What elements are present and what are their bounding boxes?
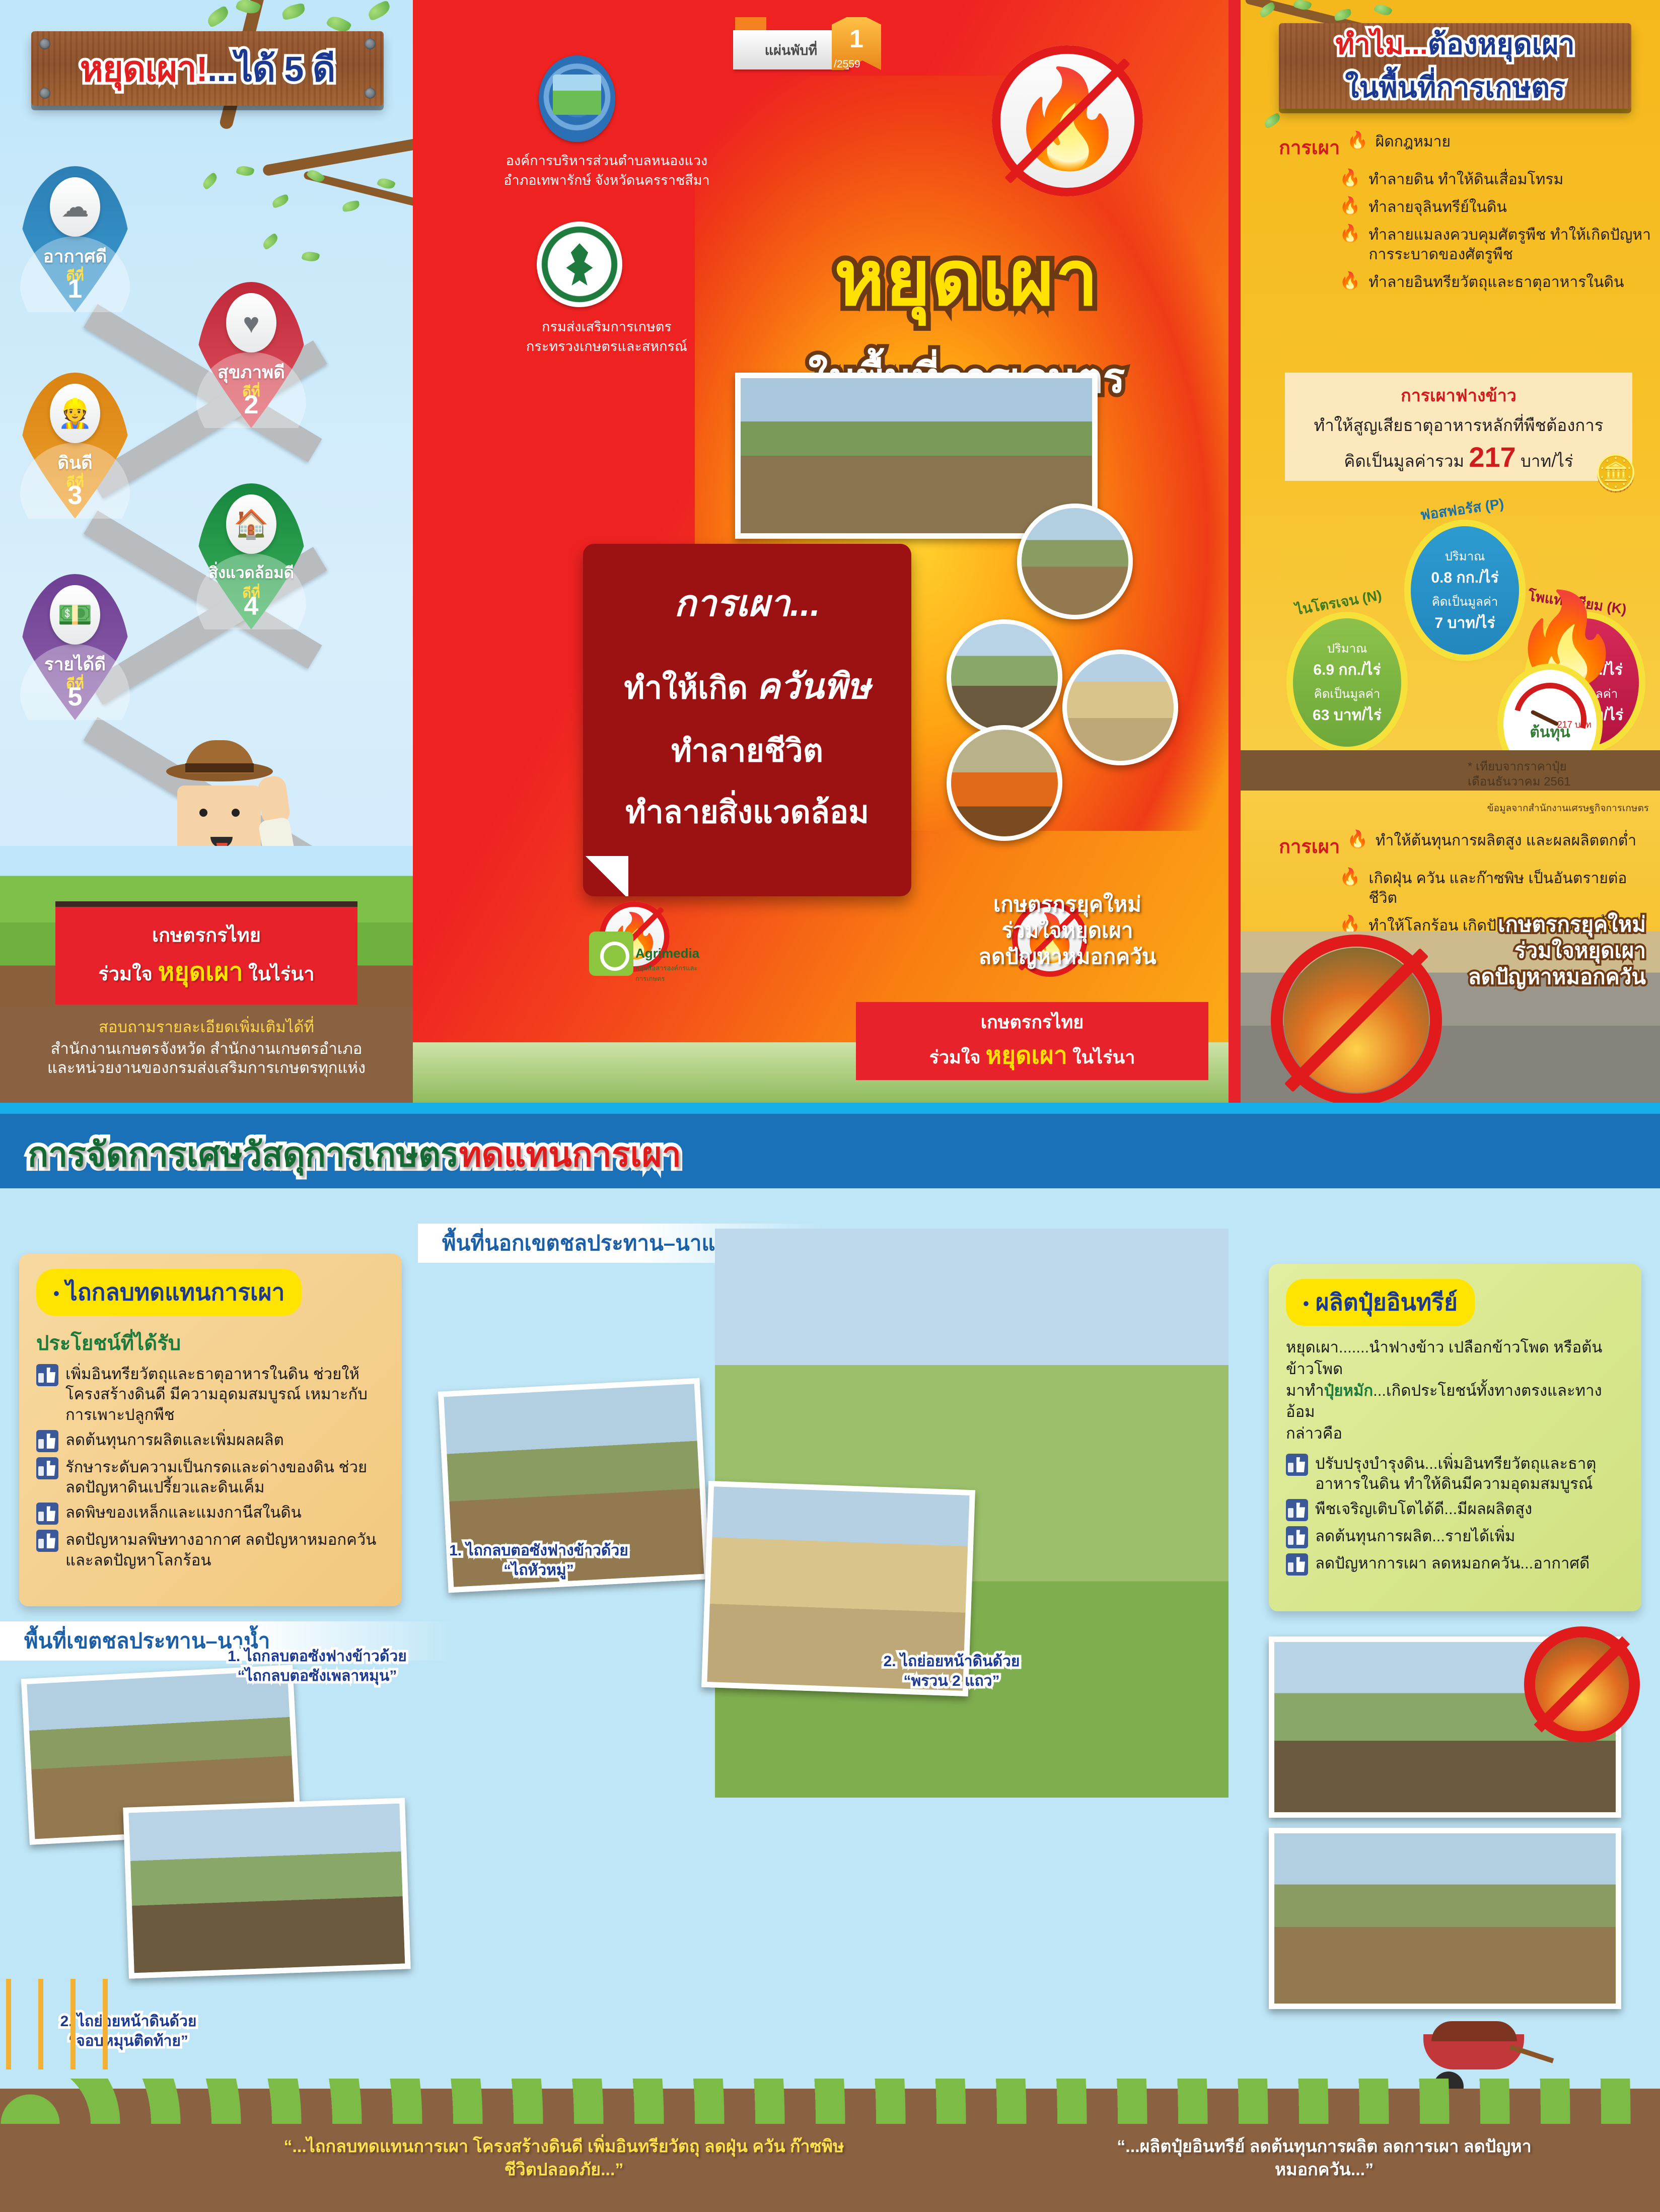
footer-quote-left: “...ไถกลบทดแทนการเผา โครงสร้างดินดี เพิ่… <box>282 2135 846 2182</box>
benefit-pin-5[interactable]: 💵 รายได้ดี ดีที่ 5 <box>20 574 130 720</box>
sao-nongwaeng-seal-logo <box>539 55 615 142</box>
harm2-item: เกิดฝุ่น ควัน และก๊าซพิษ เป็นอันตรายต่อช… <box>1368 869 1651 908</box>
tab-number: 1 <box>849 26 863 51</box>
red-banner-line1: เกษตรกรไทย <box>152 919 261 950</box>
pin-rank-number: 5 <box>20 684 130 710</box>
page-fold-corner <box>583 856 628 896</box>
red-banner-post: ในไร่นา <box>248 964 314 985</box>
flame-icon: 🔥 <box>1347 132 1368 149</box>
screw-icon <box>365 88 376 99</box>
bottom-half: การจัดการเศษวัสดุการเกษตรทดแทนการเผา ปุ๋… <box>0 1103 1660 2212</box>
grass-wave-divider <box>0 2079 1660 2124</box>
organic-intro-line1: หยุดเผา.......นำฟางข้าว เปลือกข้าวโพด หร… <box>1286 1337 1624 1380</box>
digging-person-icon: 👷 <box>50 384 100 443</box>
slogan-line-3: ลดปัญหาหมอกควัน <box>916 944 1218 970</box>
harm-item: ทำลายจุลินทรีย์ในดิน <box>1368 197 1507 217</box>
burning-effects-box: การเผา... ทำให้เกิด ควันพิษ ทำลายชีวิต ท… <box>583 544 911 896</box>
wheat-decoration <box>0 1979 131 2070</box>
sign-title-blue: ...ได้ 5 ดี <box>207 49 335 89</box>
sign2-line2: ในพื้นที่การเกษตร <box>1345 65 1565 110</box>
leaf-icon <box>1333 9 1352 22</box>
benefit-text: ลดต้นทุนการผลิตและเพิ่มผลผลิต <box>65 1430 284 1450</box>
list-item: รักษาระดับความเป็นกรดและด่างของดิน ช่วยล… <box>36 1457 385 1498</box>
slogan-line-2: ร่วมใจหยุดเผา <box>1394 938 1646 964</box>
pin-rank-number: 3 <box>20 482 130 509</box>
thumbs-up-icon <box>36 1503 58 1525</box>
leaf-icon <box>205 5 232 28</box>
photo-compost-pit-2 <box>1269 1828 1621 2009</box>
central-flame-illustration: 🔥 <box>1510 594 1623 685</box>
price-footnote: * เทียบจากราคาปุ๋ย เดือนธันวาคม 2561 <box>1468 759 1649 790</box>
nutrient-label-p: ฟอสฟอรัส (P) <box>1419 493 1505 527</box>
wheelbarrow-load <box>1431 2021 1517 2041</box>
photo-plowing-circle <box>1017 504 1133 619</box>
organic-benefit-text: ปรับปรุงบำรุงดิน...เพิ่มอินทรียวัตถุและธ… <box>1315 1454 1624 1494</box>
benefit-pin-2[interactable]: ♥ สุขภาพดี ดีที่ 2 <box>196 282 306 428</box>
burn-label-2: การเผา <box>1279 831 1340 862</box>
organic-intro-line3: กล่าวคือ <box>1286 1423 1624 1445</box>
thumbs-up-icon <box>36 1530 58 1552</box>
infobox-pre: คิดเป็นมูลค่ารวม <box>1344 452 1464 470</box>
harm-item: ทำลายดิน ทำให้ดินเสื่อมโทรม <box>1368 170 1563 189</box>
leaf-icon <box>366 0 393 21</box>
list-item: ลดปัญหามลพิษทางอากาศ ลดปัญหาหมอกควัน และ… <box>36 1530 385 1571</box>
tab-sheet: แผ่นพับที่ <box>733 30 849 69</box>
organic-pill-label: ผลิตปุ๋ยอินทรีย์ <box>1316 1289 1458 1315</box>
dark-line-1: การเผา... <box>597 574 897 632</box>
pin-rank-number: 4 <box>196 593 306 619</box>
plow-back-pill-label: ไถกลบทดแทนการเผา <box>66 1279 285 1305</box>
sign2-line1: ทำไม...ต้องหยุดเผา <box>1335 22 1574 67</box>
flame-icon: 🔥 <box>1339 916 1360 933</box>
leaf-icon <box>236 164 255 178</box>
organic-intro-pre: มาทำ <box>1286 1382 1324 1399</box>
source-footnote: ข้อมูลจากสำนักงานเศรษฐกิจการเกษตร <box>1432 801 1649 816</box>
bottom-section-title: การจัดการเศษวัสดุการเกษตรทดแทนการเผา <box>28 1127 681 1181</box>
leaf-icon <box>271 194 290 208</box>
nutrient-value: 7 บาท/ไร่ <box>1434 611 1495 635</box>
coins-icon: 🪙 <box>1594 453 1638 494</box>
infobox-title: การเผาฟางข้าว <box>1285 382 1632 409</box>
bullet-dot-icon: • <box>1303 1294 1309 1313</box>
caption-irrigated-1: 1. ไถกลบตอซังฟางข้าวด้วย “ไถกลบตอซังเพลา… <box>201 1647 433 1686</box>
plow-back-pill: • ไถกลบทดแทนการเผา <box>36 1269 302 1316</box>
title-main: หยุดเผา <box>725 217 1208 338</box>
organization-1: องค์การบริหารส่วนตำบลหนองแวง อำภอเทพารัก… <box>498 151 715 190</box>
caption-line1: 1. ไถกลบตอซังฟางข้าวด้วย <box>201 1647 433 1666</box>
red-banner-line1: เกษตรกรไทย <box>981 1008 1084 1036</box>
nutrient-bubble-nitrogen: ปริมาณ 6.9 กก./ไร่ คิดเป็นมูลค่า 63 บาท/… <box>1293 618 1401 747</box>
benefit-pin-3[interactable]: 👷 ดินดี ดีที่ 3 <box>20 373 130 519</box>
list-item: ลดต้นทุนการผลิต...รายได้เพิ่ม <box>1286 1526 1624 1548</box>
caption-line1: 1. ไถกลบตอซังฟางข้าวด้วย <box>433 1541 644 1560</box>
thumbs-up-icon <box>1286 1553 1308 1576</box>
plow-back-card: • ไถกลบทดแทนการเผา ประโยชน์ที่ได้รับ เพิ… <box>19 1254 402 1606</box>
benefit-text: รักษาระดับความเป็นกรดและด่างของดิน ช่วยล… <box>65 1457 385 1498</box>
organic-intro-line2: มาทำปุ๋ยหมัก...เกิดประโยชน์ทั้งทางตรงและ… <box>1286 1380 1624 1423</box>
slogan-line-2: ร่วมใจหยุดเผา <box>916 917 1218 944</box>
section-title-red: ทดแทนการเผา <box>459 1135 681 1174</box>
nutrient-bubble-phosphorus: ปริมาณ 0.8 กก./ไร่ คิดเป็นมูลค่า 7 บาท/ไ… <box>1411 526 1519 655</box>
nutrient-value-label: คิดเป็นมูลค่า <box>1314 684 1381 703</box>
pin-label: สิ่งแวดล้อมดี <box>196 560 306 585</box>
agrimedia-mark-icon <box>589 932 633 976</box>
harm-item: ทำลายอินทรียวัตถุและธาตุอาหารในดิน <box>1368 272 1624 292</box>
harm2-item: ทำให้ต้นทุนการผลิตสูง และผลผลิตตกต่ำ <box>1376 831 1636 850</box>
panel-cover: แผ่นพับที่ 1 /2559 องค์การบริหารส่วนตำบล… <box>413 0 1229 1103</box>
footnote-line2: เดือนธันวาคม 2561 <box>1468 774 1649 790</box>
benefit-text: ลดปัญหามลพิษทางอากาศ ลดปัญหาหมอกควัน และ… <box>65 1530 385 1571</box>
footer-quote-right: “...ผลิตปุ๋ยอินทรีย์ ลดต้นทุนการผลิต ลดก… <box>1098 2135 1551 2182</box>
caption-line2: “ไถหัวหมู” <box>433 1560 644 1580</box>
organization-2: กรมส่งเสริมการเกษตร กระทรวงเกษตรและสหกรณ… <box>498 317 715 356</box>
list-item: ลดต้นทุนการผลิตและเพิ่มผลผลิต <box>36 1430 385 1452</box>
no-burning-sign-bottom-right <box>1524 1626 1640 1742</box>
infobox-line1: ทำให้สูญเสียธาตุอาหารหลักที่พืชต้องการ <box>1285 412 1632 439</box>
dark-line-2: ทำให้เกิด ควันพิษ <box>597 658 897 714</box>
nutrient-value-label: คิดเป็นมูลค่า <box>1432 592 1498 611</box>
leaf-icon <box>200 172 220 190</box>
thumbs-up-icon <box>36 1364 58 1386</box>
red-edge-stripe <box>1229 0 1241 1103</box>
contact-line1: สำนักงานเกษตรจังหวัด สำนักงานเกษตรอำเภอ <box>0 1039 413 1058</box>
list-item: ลดปัญหาการเผา ลดหมอกควัน...อากาศดี <box>1286 1553 1624 1576</box>
leaf-icon <box>261 233 280 250</box>
organic-intro: หยุดเผา.......นำฟางข้าว เปลือกข้าวโพด หร… <box>1286 1337 1624 1445</box>
red-banner-emphasis: หยุดเผา <box>158 958 243 986</box>
nutrient-qty-value: 0.8 กก./ไร่ <box>1431 566 1498 590</box>
burn-label: การเผา <box>1279 132 1340 163</box>
doae-seal-logo <box>537 222 622 307</box>
agrimedia-name: Agrimedia <box>635 946 699 961</box>
organic-fertilizer-card: • ผลิตปุ๋ยอินทรีย์ หยุดเผา.......นำฟางข้… <box>1269 1264 1641 1611</box>
section-title-green: การจัดการเศษวัสดุการเกษตร <box>28 1135 459 1174</box>
org1-line2: อำภอเทพารักษ์ จังหวัดนครราชสีมา <box>498 171 715 190</box>
flame-icon: 🔥 <box>1339 225 1360 242</box>
thumbs-up-icon <box>1286 1499 1308 1521</box>
tab-label: แผ่นพับที่ <box>765 39 817 61</box>
screw-icon <box>39 38 50 49</box>
dark-line-3: ทำลายชีวิต <box>597 726 897 775</box>
thumbs-up-icon <box>1286 1454 1308 1476</box>
nutrient-qty-label: ปริมาณ <box>1327 638 1367 658</box>
caption-rainfed-1: 1. ไถกลบตอซังฟางข้าวด้วย “ไถหัวหมู” <box>433 1541 644 1580</box>
infographic-poster: หยุดเผา!...ได้ 5 ดี ☁ อากาศดี ดีที่ 1 <box>0 0 1660 2212</box>
contact-soil-footer: สอบถามรายละเอียดเพิ่มเติมได้ที่ สำนักงาน… <box>0 1007 413 1103</box>
slogan-line-1: เกษตรกรยุคใหม่ <box>916 891 1218 917</box>
list-item: ปรับปรุงบำรุงดิน...เพิ่มอินทรียวัตถุและธ… <box>1286 1454 1624 1494</box>
top-half: หยุดเผา!...ได้ 5 ดี ☁ อากาศดี ดีที่ 1 <box>0 0 1660 1103</box>
leaf-icon <box>301 250 320 263</box>
organic-benefit-text: พืชเจริญเติบโตได้ดี...มีผลผลิตสูง <box>1315 1499 1532 1519</box>
sign2-blue1: ต้องหยุดเผา <box>1428 28 1575 60</box>
list-item: พืชเจริญเติบโตได้ดี...มีผลผลิตสูง <box>1286 1499 1624 1521</box>
wooden-sign-why-stop: ทำไม...ต้องหยุดเผา ในพื้นที่การเกษตร <box>1279 23 1631 109</box>
gauge-max: 217 บาท <box>1557 717 1592 732</box>
organic-pill: • ผลิตปุ๋ยอินทรีย์ <box>1286 1279 1475 1326</box>
benefit-text: ลดพิษของเหล็กและแมงกานีสในดิน <box>65 1503 302 1523</box>
list-item: เพิ่มอินทรียวัตถุและธาตุอาหารในดิน ช่วยใ… <box>36 1364 385 1425</box>
thai-farmer-red-banner: เกษตรกรไทย ร่วมใจ หยุดเผา ในไร่นา <box>55 901 357 1005</box>
red-banner-line2: ร่วมใจ หยุดเผา ในไร่นา <box>98 952 314 992</box>
pin-rank-number: 1 <box>20 276 130 302</box>
panel-five-benefits: หยุดเผา!...ได้ 5 ดี ☁ อากาศดี ดีที่ 1 <box>0 0 413 1103</box>
burning-harms-list: การเผา 🔥 ผิดกฎหมาย 🔥 ทำลายดิน ทำให้ดินเส… <box>1279 132 1651 300</box>
red-banner-pre: ร่วมใจ <box>929 1047 981 1067</box>
dark-line-2-pre: ทำให้เกิด <box>624 671 748 705</box>
caption-line1: 2. ไถย่อยหน้าดินด้วย <box>846 1652 1057 1671</box>
leaf-icon <box>342 200 360 212</box>
benefits-heading: ประโยชน์ที่ได้รับ <box>36 1327 385 1359</box>
leaf-icon <box>281 3 306 21</box>
photo-dryfield-circle <box>947 619 1062 735</box>
org1-line1: องค์การบริหารส่วนตำบลหนองแวง <box>498 151 715 171</box>
thumbs-up-icon <box>1286 1526 1308 1548</box>
bullet-dot-icon: • <box>53 1284 59 1303</box>
infobox-unit: บาท/ไร่ <box>1521 452 1573 470</box>
new-farmer-slogan-center: เกษตรกรยุคใหม่ ร่วมใจหยุดเผา ลดปัญหาหมอก… <box>916 891 1218 970</box>
no-burning-sign-large: 🔥 <box>992 45 1143 196</box>
sign-title-red: หยุดเผา! <box>80 49 207 89</box>
flame-icon: 🔥 <box>1347 831 1368 848</box>
nutrient-qty-label: ปริมาณ <box>1445 546 1485 566</box>
flame-icon: 🔥 <box>1339 170 1360 187</box>
benefit-text: เพิ่มอินทรียวัตถุและธาตุอาหารในดิน ช่วยใ… <box>65 1364 385 1425</box>
dark-line-4: ทำลายสิ่งแวดล้อม <box>597 788 897 837</box>
photo-irrigated-plow-2 <box>123 1798 411 1978</box>
infobox-value: 217 <box>1469 441 1515 473</box>
red-banner-line2: ร่วมใจ หยุดเผา ในไร่นา <box>929 1036 1135 1075</box>
new-farmer-slogan-right: เกษตรกรยุคใหม่ ร่วมใจหยุดเผา ลดปัญหาหมอก… <box>1394 911 1646 990</box>
screw-icon <box>365 38 376 49</box>
thumbs-up-icon <box>36 1430 58 1452</box>
cloud-sun-icon: ☁ <box>50 177 100 237</box>
photo-burning-field-circle <box>947 725 1062 841</box>
org2-line2: กระทรวงเกษตรและสหกรณ์ <box>498 337 715 356</box>
agrimedia-logo: Agrimedia กลุ่มสื่อสารองค์กรและการเกษตร <box>589 932 700 992</box>
money-icon: 💵 <box>50 585 100 645</box>
leaflet-number-tab: แผ่นพับที่ 1 /2559 <box>733 14 894 69</box>
red-banner-emphasis: หยุดเผา <box>986 1042 1067 1069</box>
footnote-line1: * เทียบจากราคาปุ๋ย <box>1468 759 1649 774</box>
benefit-pin-4[interactable]: 🏠 สิ่งแวดล้อมดี ดีที่ 4 <box>196 483 306 629</box>
dark-line-2-emphasis: ควันพิษ <box>756 667 870 706</box>
leaf-icon <box>1374 2 1393 18</box>
nutrient-label-n: ไนโตรเจน (N) <box>1293 584 1383 621</box>
list-item: ลดพิษของเหล็กและแมงกานีสในดิน <box>36 1503 385 1525</box>
screw-icon <box>39 88 50 99</box>
caption-line2: “ไถกลบตอซังเพลาหมุน” <box>201 1666 433 1686</box>
infobox-line2: คิดเป็นมูลค่ารวม 217 บาท/ไร่ <box>1285 441 1632 474</box>
sign-title: หยุดเผา!...ได้ 5 ดี <box>80 41 335 97</box>
sign2-red: ทำไม... <box>1335 28 1427 60</box>
panel-why-stop-burning: ทำไม...ต้องหยุดเผา ในพื้นที่การเกษตร การ… <box>1229 0 1660 1103</box>
contact-line2: และหน่วยงานของกรมส่งเสริมการเกษตรทุกแห่ง <box>0 1058 413 1078</box>
organic-benefit-text: ลดปัญหาการเผา ลดหมอกควัน...อากาศดี <box>1315 1553 1590 1574</box>
agrimedia-sub: กลุ่มสื่อสารองค์กรและการเกษตร <box>635 963 700 984</box>
thumbs-up-icon <box>36 1457 58 1479</box>
nutrient-value: 63 บาท/ไร่ <box>1313 703 1382 727</box>
caption-rainfed-2: 2. ไถย่อยหน้าดินด้วย “พรวน 2 แถว” <box>846 1652 1057 1691</box>
branch-icon <box>262 137 413 177</box>
organic-intro-emphasis: ปุ๋ยหมัก <box>1324 1382 1373 1399</box>
harm-item: ผิดกฎหมาย <box>1376 132 1451 152</box>
light-blue-strip <box>0 1103 1660 1114</box>
heart-pulse-icon: ♥ <box>226 293 276 352</box>
leaf-icon <box>1263 112 1282 129</box>
pin-rank-number: 2 <box>196 392 306 418</box>
contact-title: สอบถามรายละเอียดเพิ่มเติมได้ที่ <box>0 1007 413 1039</box>
slogan-line-3: ลดปัญหาหมอกควัน <box>1394 964 1646 990</box>
harm-item: ทำลายแมลงควบคุมศัตรูพืช ทำให้เกิดปัญหากา… <box>1368 225 1651 264</box>
eco-house-icon: 🏠 <box>226 494 276 554</box>
photo-straw-field-circle <box>1062 650 1178 765</box>
red-banner-pre: ร่วมใจ <box>98 964 153 985</box>
slogan-line-1: เกษตรกรยุคใหม่ <box>1394 911 1646 938</box>
ribbon-mid-label: พื้นที่นอกเขตชลประทาน–นาแห้ง <box>418 1227 740 1260</box>
flame-icon: 🔥 <box>1339 272 1360 290</box>
caption-line2: “พรวน 2 แถว” <box>846 1671 1057 1691</box>
thai-farmer-red-banner-center: เกษตรกรไทย ร่วมใจ หยุดเผา ในไร่นา <box>856 1002 1208 1080</box>
wooden-sign-five-benefits: หยุดเผา!...ได้ 5 ดี <box>31 31 384 106</box>
org2-line1: กรมส่งเสริมการเกษตร <box>498 317 715 337</box>
straw-burning-loss-box: การเผาฟางข้าว ทำให้สูญเสียธาตุอาหารหลักท… <box>1285 373 1632 481</box>
tab-year: /2559 <box>834 58 860 70</box>
organic-benefit-text: ลดต้นทุนการผลิต...รายได้เพิ่ม <box>1315 1526 1515 1546</box>
nutrient-qty-value: 6.9 กก./ไร่ <box>1313 658 1381 682</box>
benefit-pin-1[interactable]: ☁ อากาศดี ดีที่ 1 <box>20 166 130 312</box>
flame-icon: 🔥 <box>1339 869 1360 886</box>
red-banner-post: ในไร่นา <box>1072 1047 1135 1067</box>
flame-icon: 🔥 <box>1339 197 1360 215</box>
